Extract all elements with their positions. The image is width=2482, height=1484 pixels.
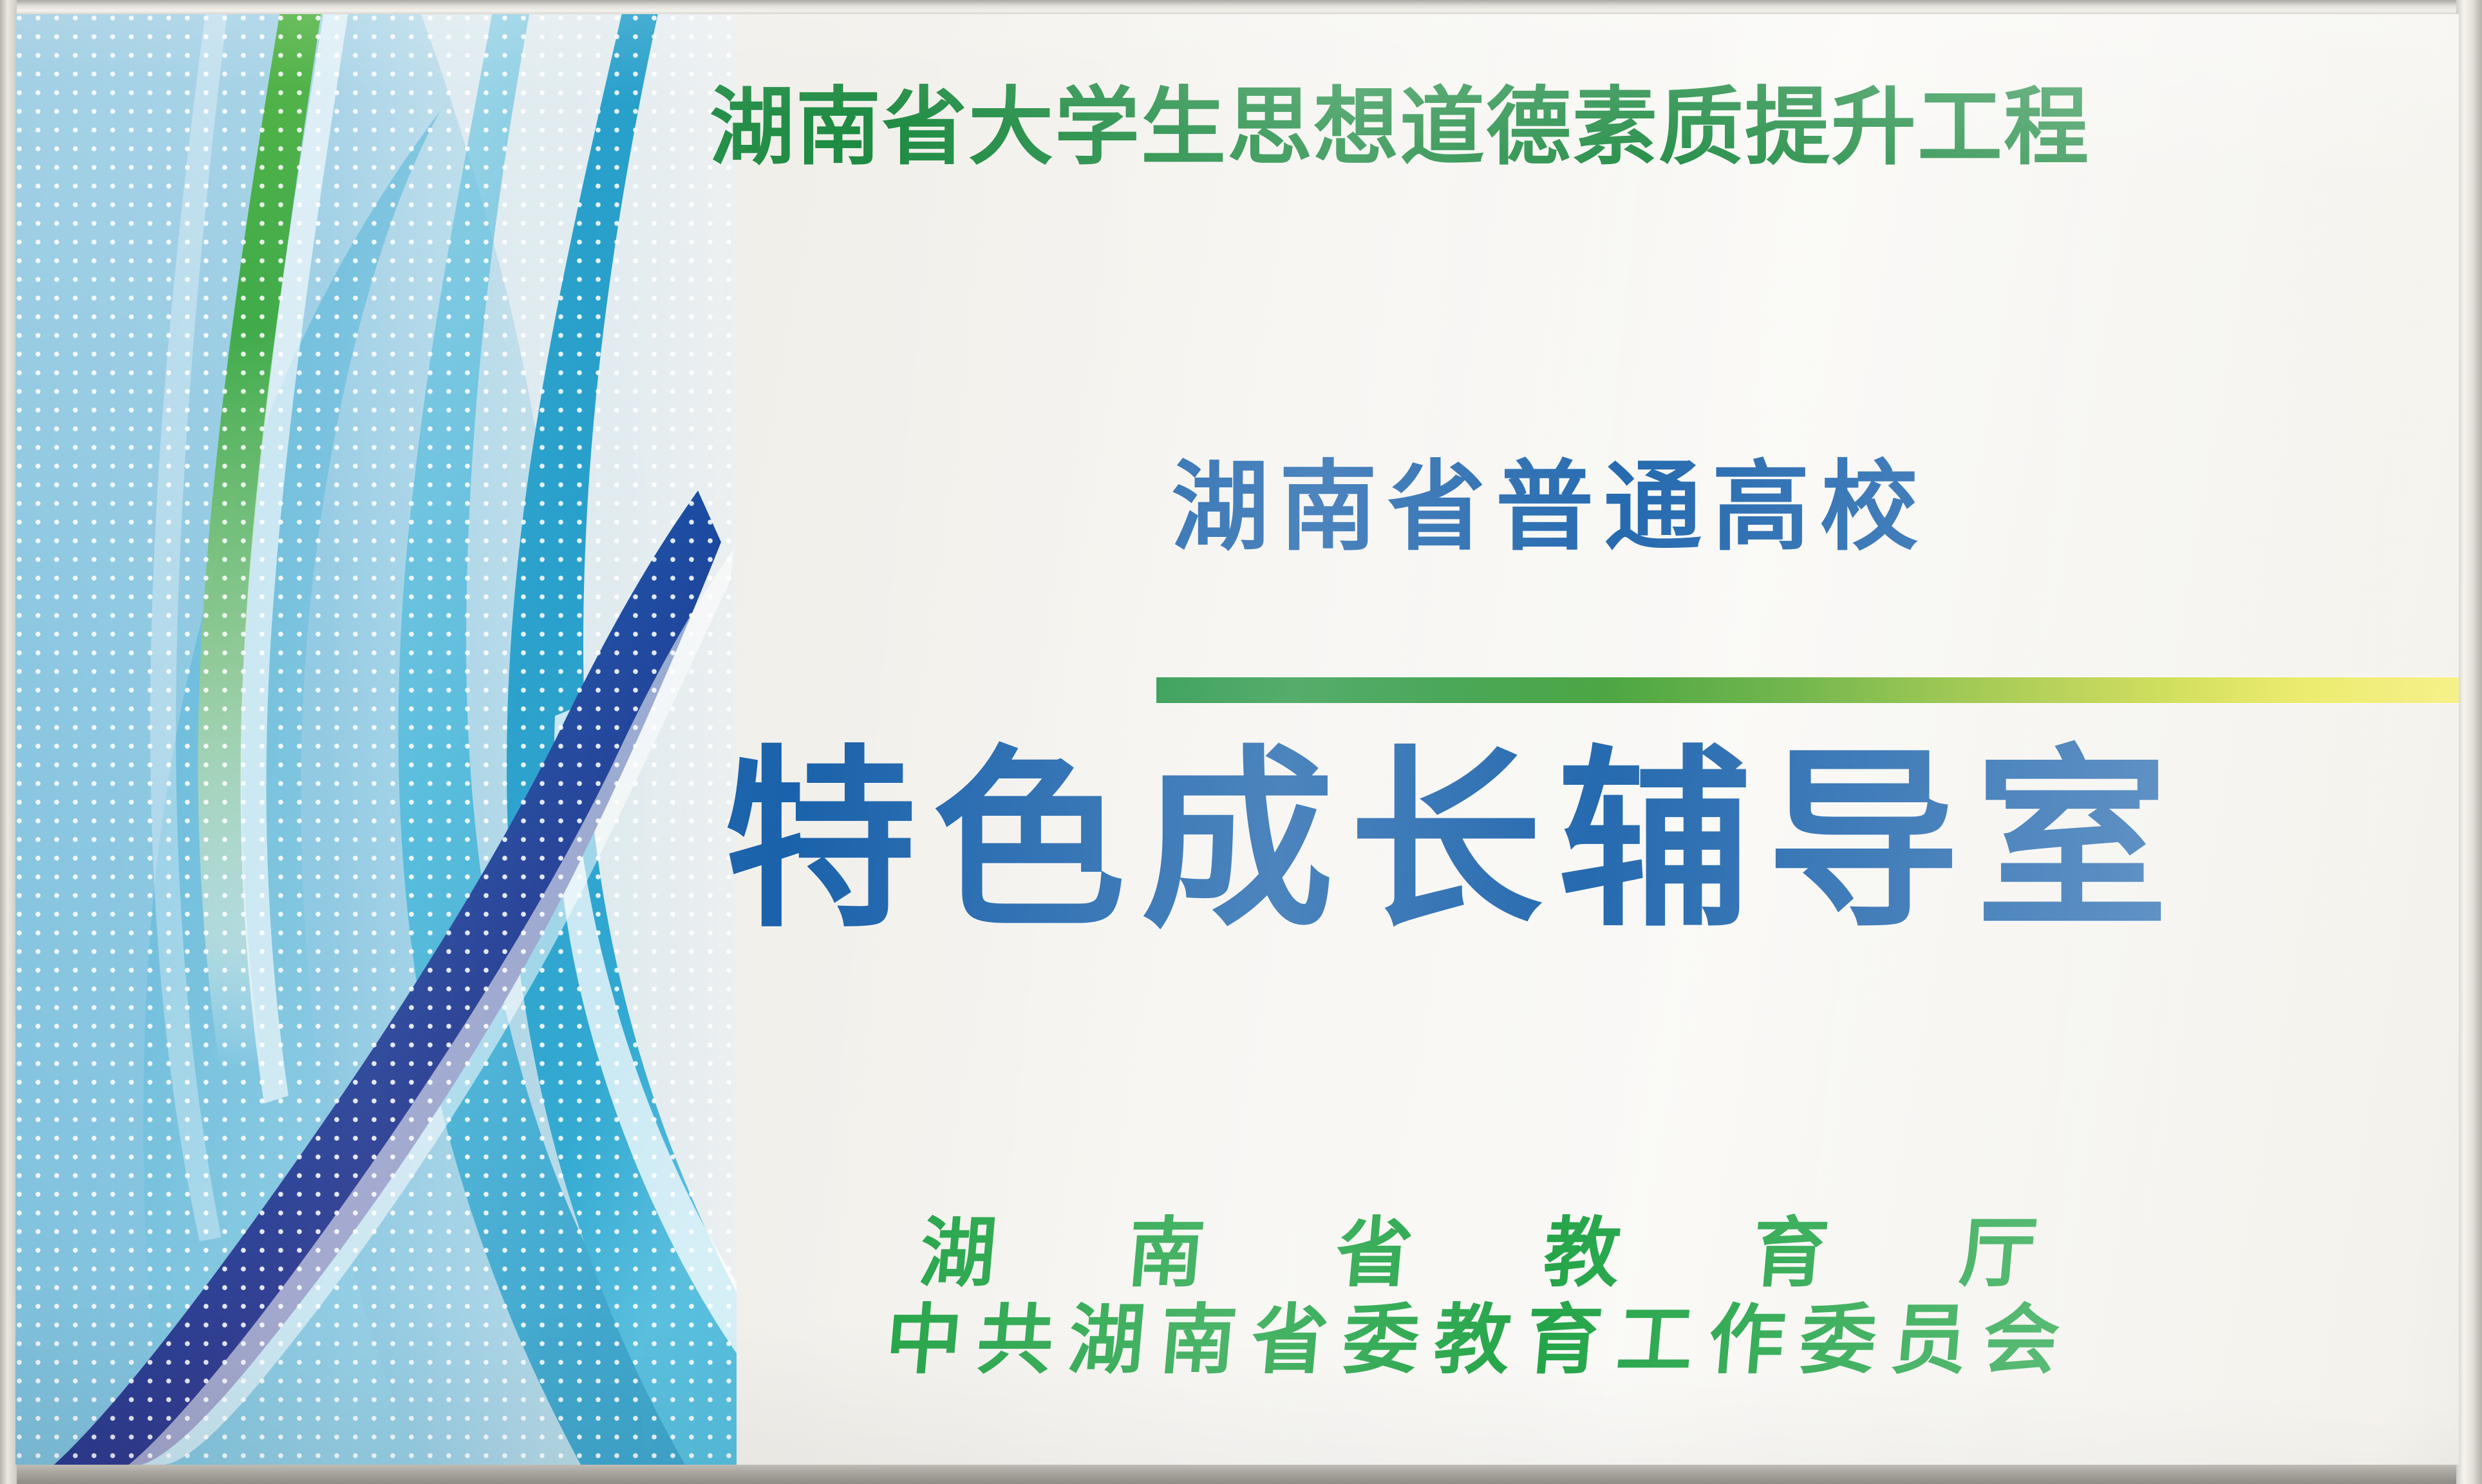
halftone-dot-pattern — [15, 14, 737, 1465]
program-headline: 湖南省大学生思想道德素质提升工程 — [710, 85, 2090, 170]
award-plaque: 湖南省大学生思想道德素质提升工程 湖南省普通高校 特色成长辅导室 湖 南 省 教… — [0, 0, 2482, 1484]
main-title: 特色成长辅导室 — [724, 745, 2184, 938]
frame-edge-right — [2456, 0, 2482, 1484]
frame-edge-left — [0, 0, 17, 1484]
issuer-line-1: 湖 南 省 教 育 厅 — [917, 1215, 2092, 1291]
decorative-ribbon-graphic — [15, 14, 737, 1465]
gradient-rule-divider — [1156, 677, 2459, 703]
issuer-line-2: 中共湖南省委教育工作委员会 — [883, 1302, 2078, 1378]
frame-edge-top — [0, 0, 2482, 15]
plaque-face: 湖南省大学生思想道德素质提升工程 湖南省普通高校 特色成长辅导室 湖 南 省 教… — [15, 14, 2459, 1465]
subtitle-line: 湖南省普通高校 — [1171, 458, 1928, 556]
frame-edge-bottom — [0, 1462, 2482, 1484]
